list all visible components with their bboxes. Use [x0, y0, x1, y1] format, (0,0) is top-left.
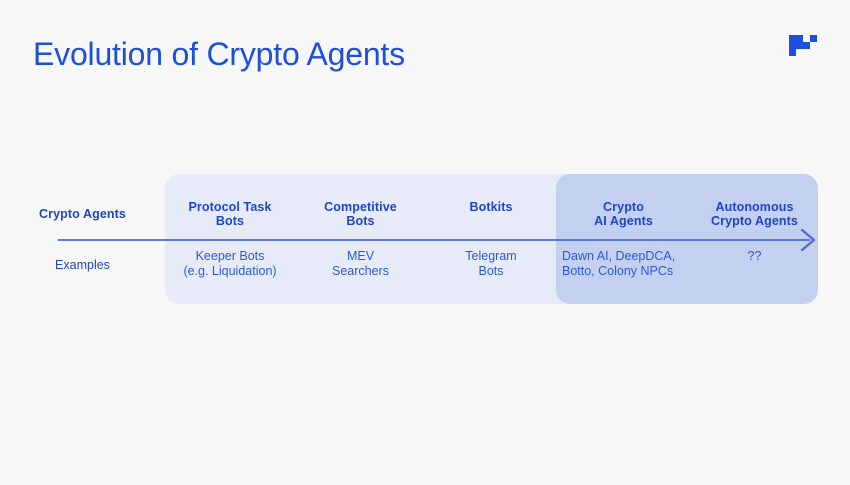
stage-example-line2: Searchers: [332, 264, 389, 278]
stage-example-line2: (e.g. Liquidation): [183, 264, 276, 278]
stage-example: MEV Searchers: [297, 249, 424, 278]
stage-example-line2: Botto, Colony NPCs: [562, 264, 673, 278]
row-label-examples: Examples: [0, 258, 165, 272]
stage-example-line2: Bots: [478, 264, 503, 278]
stage-title: Protocol Task Bots: [165, 200, 295, 228]
stage-example: Keeper Bots (e.g. Liquidation): [165, 249, 295, 278]
stage-title-line2: Bots: [216, 214, 244, 228]
stage-title: Competitive Bots: [297, 200, 424, 228]
stage-title: Botkits: [428, 200, 554, 214]
stage-title-line2: Bots: [346, 214, 374, 228]
stage-column-protocol-task-bots: Protocol Task Bots Keeper Bots (e.g. Liq…: [165, 160, 295, 310]
stage-example: Telegram Bots: [428, 249, 554, 278]
stage-title-line1: Crypto: [603, 200, 644, 214]
stage-title-line1: Botkits: [469, 200, 512, 214]
stage-example-line1: MEV: [347, 249, 374, 263]
stage-example-line1: ??: [748, 249, 762, 263]
page-title: Evolution of Crypto Agents: [33, 36, 405, 73]
stage-column-botkits: Botkits Telegram Bots: [428, 160, 554, 310]
brand-logo: [788, 34, 820, 60]
stage-example: Dawn AI, DeepDCA, Botto, Colony NPCs: [556, 249, 691, 278]
blockworks-pixel-logo-icon: [788, 34, 820, 60]
stage-title: Autonomous Crypto Agents: [691, 200, 818, 228]
row-label-stages: Crypto Agents: [0, 207, 165, 221]
stage-title-line1: Competitive: [324, 200, 397, 214]
stage-title-line1: Autonomous: [715, 200, 793, 214]
stage-title-line2: AI Agents: [594, 214, 653, 228]
evolution-timeline-diagram: Crypto Agents Examples Protocol Task Bot…: [0, 160, 850, 310]
stage-title-line1: Protocol Task: [188, 200, 271, 214]
stage-column-crypto-ai-agents: Crypto AI Agents Dawn AI, DeepDCA, Botto…: [556, 160, 691, 310]
stage-column-competitive-bots: Competitive Bots MEV Searchers: [297, 160, 424, 310]
stage-example: ??: [691, 249, 818, 264]
stage-example-line1: Dawn AI, DeepDCA,: [562, 249, 675, 263]
stage-example-line1: Keeper Bots: [196, 249, 265, 263]
stage-title-line2: Crypto Agents: [711, 214, 798, 228]
stage-title: Crypto AI Agents: [556, 200, 691, 228]
stage-example-line1: Telegram: [465, 249, 516, 263]
stage-column-autonomous-crypto-agents: Autonomous Crypto Agents ??: [691, 160, 818, 310]
